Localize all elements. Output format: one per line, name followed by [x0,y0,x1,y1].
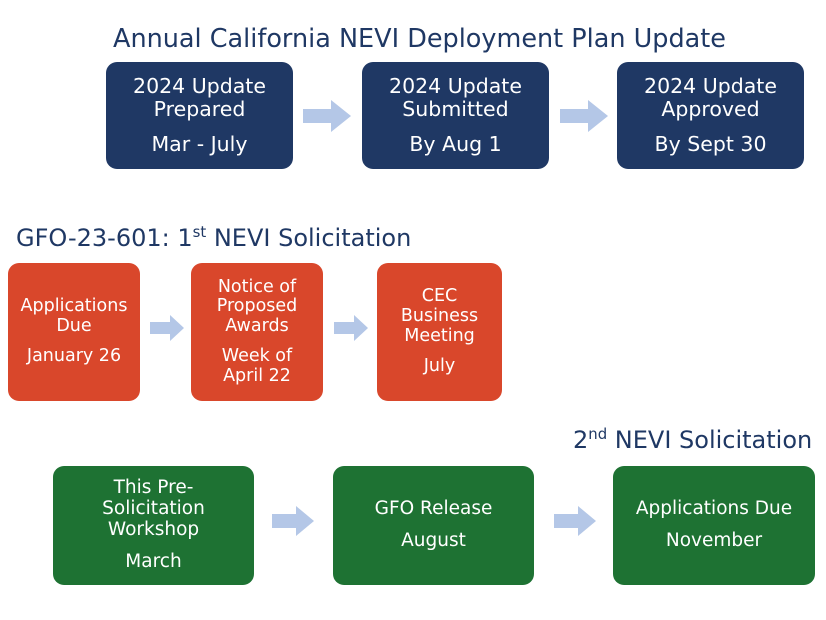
heading-ordinal-suffix: nd [588,425,607,443]
box-date-1: August [401,531,466,552]
heading-ordinal-suffix: st [193,223,207,241]
box-cec-business-meeting[interactable]: CEC Business Meeting July [377,263,502,401]
box-line-2: Due [56,317,91,337]
heading-text-before: 2 [573,426,588,454]
box-line-2: Approved [661,98,759,121]
box-line-2: Prepared [154,98,246,121]
box-date-1: Week of [222,347,292,367]
box-line-2: Business [401,307,478,327]
box-applications-due-november[interactable]: Applications Due November [613,466,815,585]
box-gfo-release-august[interactable]: GFO Release August [333,466,534,585]
box-date-1: November [666,531,762,552]
box-applications-due-january[interactable]: Applications Due January 26 [8,263,140,401]
right-arrow-icon [560,100,608,132]
right-arrow-icon [554,506,596,536]
box-line-1: 2024 Update [389,75,522,98]
box-line-1: Notice of [218,278,296,298]
heading-text-before: GFO-23-601: 1 [16,224,193,252]
box-line-3: Meeting [404,327,475,347]
section-heading-first-solicitation: GFO-23-601: 1st NEVI Solicitation [16,226,411,250]
heading-text-after: NEVI Solicitation [206,224,411,252]
right-arrow-icon [303,100,351,132]
section-heading-second-solicitation: 2nd NEVI Solicitation [573,428,812,452]
box-line-1: CEC [422,287,458,307]
box-2024-update-prepared[interactable]: 2024 Update Prepared Mar - July [106,62,293,169]
box-line-1: Applications [21,297,128,317]
box-line-1: This Pre- [114,478,194,499]
flowchart-canvas: Annual California NEVI Deployment Plan U… [0,0,826,620]
right-arrow-icon [334,315,368,341]
section-heading-annual-update: Annual California NEVI Deployment Plan U… [113,27,726,53]
box-pre-solicitation-workshop[interactable]: This Pre- Solicitation Workshop March [53,466,254,585]
box-date-1: March [125,552,181,573]
box-2024-update-submitted[interactable]: 2024 Update Submitted By Aug 1 [362,62,549,169]
right-arrow-icon [150,315,184,341]
box-line-1: 2024 Update [644,75,777,98]
box-line-1: GFO Release [375,499,493,520]
box-line-1: 2024 Update [133,75,266,98]
heading-text-after: NEVI Solicitation [607,426,812,454]
box-2024-update-approved[interactable]: 2024 Update Approved By Sept 30 [617,62,804,169]
box-line-2: Proposed [217,297,298,317]
box-date: By Sept 30 [655,133,767,156]
box-date-1: January 26 [27,347,121,367]
box-line-3: Workshop [108,520,199,541]
box-line-2: Submitted [402,98,508,121]
box-notice-of-proposed-awards[interactable]: Notice of Proposed Awards Week of April … [191,263,323,401]
box-date: By Aug 1 [409,133,501,156]
box-line-2: Solicitation [102,499,205,520]
box-date-2: April 22 [223,367,291,387]
box-line-3: Awards [225,317,288,337]
box-line-1: Applications Due [636,499,792,520]
box-date-1: July [424,357,455,377]
right-arrow-icon [272,506,314,536]
box-date: Mar - July [152,133,248,156]
